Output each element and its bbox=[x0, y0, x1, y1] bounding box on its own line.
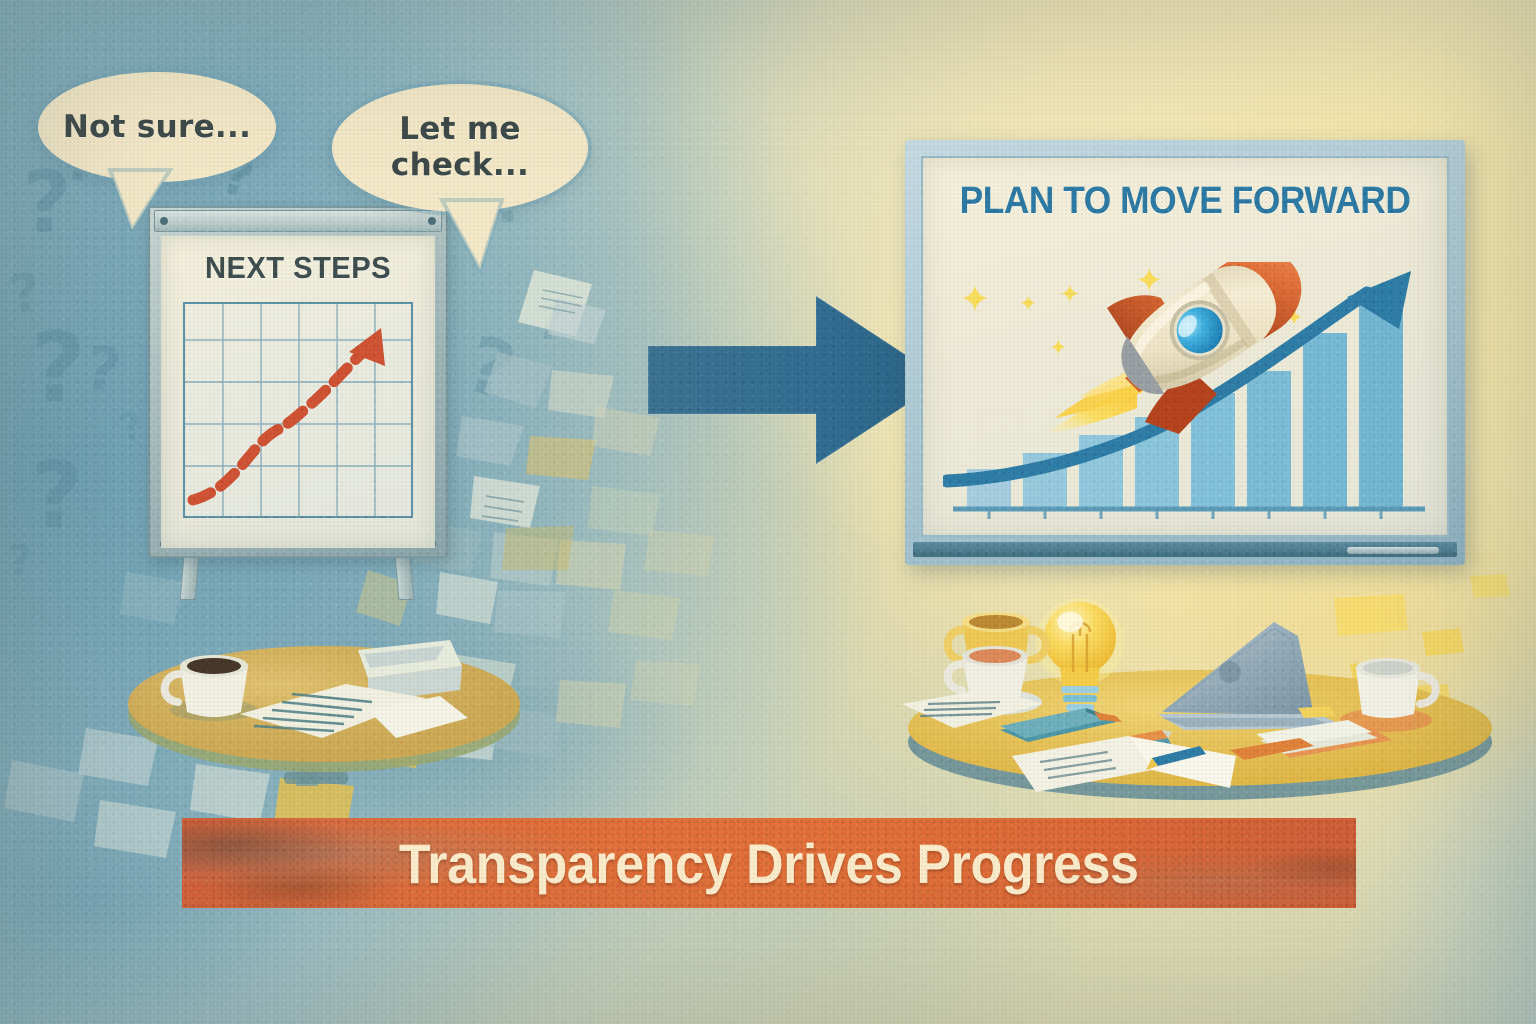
illustration-canvas: ? ? ? ? ? ? ? ? ? ? ? ? bbox=[0, 0, 1536, 1024]
paper-grain-overlay-2 bbox=[0, 0, 1536, 1024]
